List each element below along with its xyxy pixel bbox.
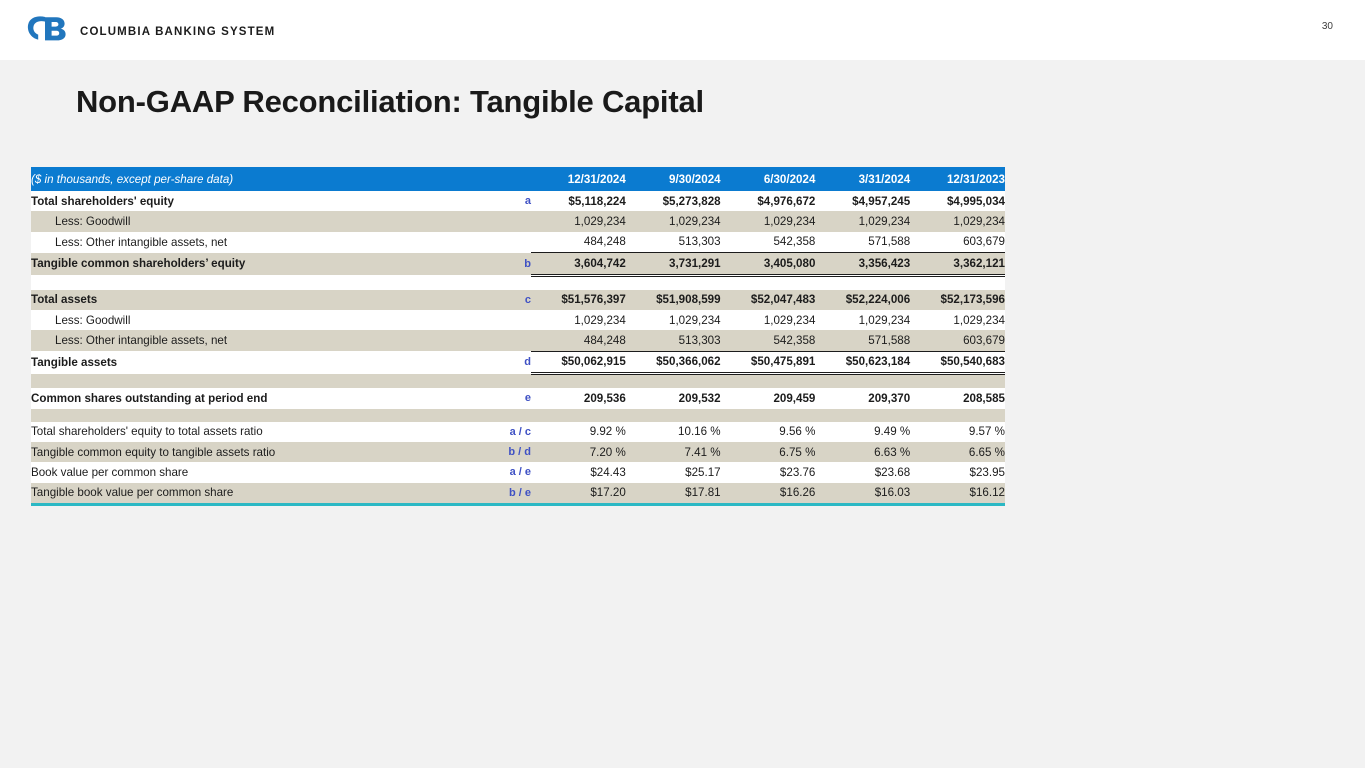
row-value: $16.26 <box>721 483 816 503</box>
columbia-cb-logo-icon <box>26 14 68 49</box>
spacer-cell <box>31 374 1005 389</box>
row-value: 208,585 <box>910 388 1005 408</box>
row-code: e <box>469 388 531 408</box>
table-row: Tangible book value per common share b /… <box>31 483 1005 503</box>
row-value: $52,224,006 <box>815 290 910 310</box>
row-label: Common shares outstanding at period end <box>31 388 469 408</box>
row-value: $17.81 <box>626 483 721 503</box>
table-row: Total shareholders' equity a $5,118,224 … <box>31 191 1005 211</box>
table-row: Less: Other intangible assets, net 484,2… <box>31 330 1005 351</box>
row-value: $52,047,483 <box>721 290 816 310</box>
row-value: $50,475,891 <box>721 351 816 373</box>
table-bottom-accent <box>31 503 1005 506</box>
row-value: 3,362,121 <box>910 253 1005 275</box>
table-row: Less: Other intangible assets, net 484,2… <box>31 232 1005 253</box>
row-code: b / d <box>469 442 531 462</box>
table-row: Less: Goodwill 1,029,234 1,029,234 1,029… <box>31 310 1005 330</box>
row-value: 7.41 % <box>626 442 721 462</box>
row-value: 10.16 % <box>626 422 721 442</box>
row-code <box>469 211 531 231</box>
row-value: 603,679 <box>910 232 1005 253</box>
row-code <box>469 232 531 253</box>
units-note: ($ in thousands, except per-share data) <box>31 167 531 191</box>
row-code: a <box>469 191 531 211</box>
row-value: $24.43 <box>531 462 626 482</box>
row-value: $50,366,062 <box>626 351 721 373</box>
row-code: b / e <box>469 483 531 503</box>
row-value: $50,540,683 <box>910 351 1005 373</box>
row-code: a / e <box>469 462 531 482</box>
row-value: 7.20 % <box>531 442 626 462</box>
row-value: 1,029,234 <box>815 310 910 330</box>
row-label: Total shareholders' equity <box>31 191 469 211</box>
row-code: a / c <box>469 422 531 442</box>
row-label: Book value per common share <box>31 462 469 482</box>
row-value: 9.57 % <box>910 422 1005 442</box>
row-value: 1,029,234 <box>910 310 1005 330</box>
row-value: 1,029,234 <box>626 211 721 231</box>
column-header-3: 3/31/2024 <box>815 167 910 191</box>
row-value: 513,303 <box>626 330 721 351</box>
table-spacer-row <box>31 409 1005 422</box>
row-label: Total shareholders' equity to total asse… <box>31 422 469 442</box>
row-label: Less: Goodwill <box>31 310 469 330</box>
row-value: 513,303 <box>626 232 721 253</box>
row-value: $4,976,672 <box>721 191 816 211</box>
spacer-cell <box>31 275 1005 290</box>
row-value: $50,623,184 <box>815 351 910 373</box>
row-value: 603,679 <box>910 330 1005 351</box>
row-value: $17.20 <box>531 483 626 503</box>
row-code: b <box>469 253 531 275</box>
row-label: Less: Other intangible assets, net <box>31 330 469 351</box>
row-value: $16.12 <box>910 483 1005 503</box>
table-row: Total assets c $51,576,397 $51,908,599 $… <box>31 290 1005 310</box>
table-row: Less: Goodwill 1,029,234 1,029,234 1,029… <box>31 211 1005 231</box>
table-header-row: ($ in thousands, except per-share data) … <box>31 167 1005 191</box>
row-value: 9.49 % <box>815 422 910 442</box>
column-header-2: 6/30/2024 <box>721 167 816 191</box>
brand-lockup: COLUMBIA BANKING SYSTEM <box>26 14 275 49</box>
tangible-capital-table: ($ in thousands, except per-share data) … <box>31 167 1005 503</box>
row-label: Tangible common shareholders’ equity <box>31 253 469 275</box>
row-value: 1,029,234 <box>815 211 910 231</box>
row-code: d <box>469 351 531 373</box>
row-label: Tangible book value per common share <box>31 483 469 503</box>
table-row: Total shareholders' equity to total asse… <box>31 422 1005 442</box>
row-code <box>469 330 531 351</box>
row-label: Less: Other intangible assets, net <box>31 232 469 253</box>
column-header-4: 12/31/2023 <box>910 167 1005 191</box>
row-value: $5,118,224 <box>531 191 626 211</box>
row-value: $5,273,828 <box>626 191 721 211</box>
row-value: $25.17 <box>626 462 721 482</box>
row-value: 484,248 <box>531 330 626 351</box>
row-value: 1,029,234 <box>531 211 626 231</box>
row-value: 484,248 <box>531 232 626 253</box>
slide-header: COLUMBIA BANKING SYSTEM 30 <box>0 0 1365 60</box>
row-label: Total assets <box>31 290 469 310</box>
row-value: $23.76 <box>721 462 816 482</box>
row-value: 571,588 <box>815 330 910 351</box>
row-value: $51,908,599 <box>626 290 721 310</box>
row-value: $23.95 <box>910 462 1005 482</box>
row-value: 6.63 % <box>815 442 910 462</box>
row-value: 9.92 % <box>531 422 626 442</box>
table-row: Tangible common equity to tangible asset… <box>31 442 1005 462</box>
row-value: 3,405,080 <box>721 253 816 275</box>
page-title: Non-GAAP Reconciliation: Tangible Capita… <box>76 84 704 120</box>
row-value: 6.75 % <box>721 442 816 462</box>
table-row: Book value per common share a / e $24.43… <box>31 462 1005 482</box>
row-value: 209,459 <box>721 388 816 408</box>
row-value: 542,358 <box>721 330 816 351</box>
row-value: 6.65 % <box>910 442 1005 462</box>
row-value: 1,029,234 <box>531 310 626 330</box>
row-value: 1,029,234 <box>721 310 816 330</box>
row-value: 571,588 <box>815 232 910 253</box>
row-code <box>469 310 531 330</box>
brand-name: COLUMBIA BANKING SYSTEM <box>80 26 275 38</box>
row-value: 1,029,234 <box>910 211 1005 231</box>
row-value: 209,536 <box>531 388 626 408</box>
row-value: 209,370 <box>815 388 910 408</box>
row-label: Tangible common equity to tangible asset… <box>31 442 469 462</box>
row-label: Less: Goodwill <box>31 211 469 231</box>
row-value: 1,029,234 <box>721 211 816 231</box>
table-row-subtotal: Tangible assets d $50,062,915 $50,366,06… <box>31 351 1005 373</box>
row-value: $4,957,245 <box>815 191 910 211</box>
table-row-subtotal: Tangible common shareholders’ equity b 3… <box>31 253 1005 275</box>
row-code: c <box>469 290 531 310</box>
tangible-capital-table-wrap: ($ in thousands, except per-share data) … <box>31 167 1005 506</box>
row-value: $16.03 <box>815 483 910 503</box>
row-value: $23.68 <box>815 462 910 482</box>
column-header-0: 12/31/2024 <box>531 167 626 191</box>
row-value: 9.56 % <box>721 422 816 442</box>
page-number: 30 <box>1322 21 1333 32</box>
row-value: $52,173,596 <box>910 290 1005 310</box>
column-header-1: 9/30/2024 <box>626 167 721 191</box>
table-spacer-row <box>31 275 1005 290</box>
row-value: $4,995,034 <box>910 191 1005 211</box>
row-value: 3,604,742 <box>531 253 626 275</box>
row-value: 542,358 <box>721 232 816 253</box>
row-label: Tangible assets <box>31 351 469 373</box>
table-spacer-row <box>31 374 1005 389</box>
table-row: Common shares outstanding at period end … <box>31 388 1005 408</box>
row-value: $51,576,397 <box>531 290 626 310</box>
row-value: $50,062,915 <box>531 351 626 373</box>
row-value: 209,532 <box>626 388 721 408</box>
row-value: 1,029,234 <box>626 310 721 330</box>
spacer-cell <box>31 409 1005 422</box>
row-value: 3,731,291 <box>626 253 721 275</box>
row-value: 3,356,423 <box>815 253 910 275</box>
